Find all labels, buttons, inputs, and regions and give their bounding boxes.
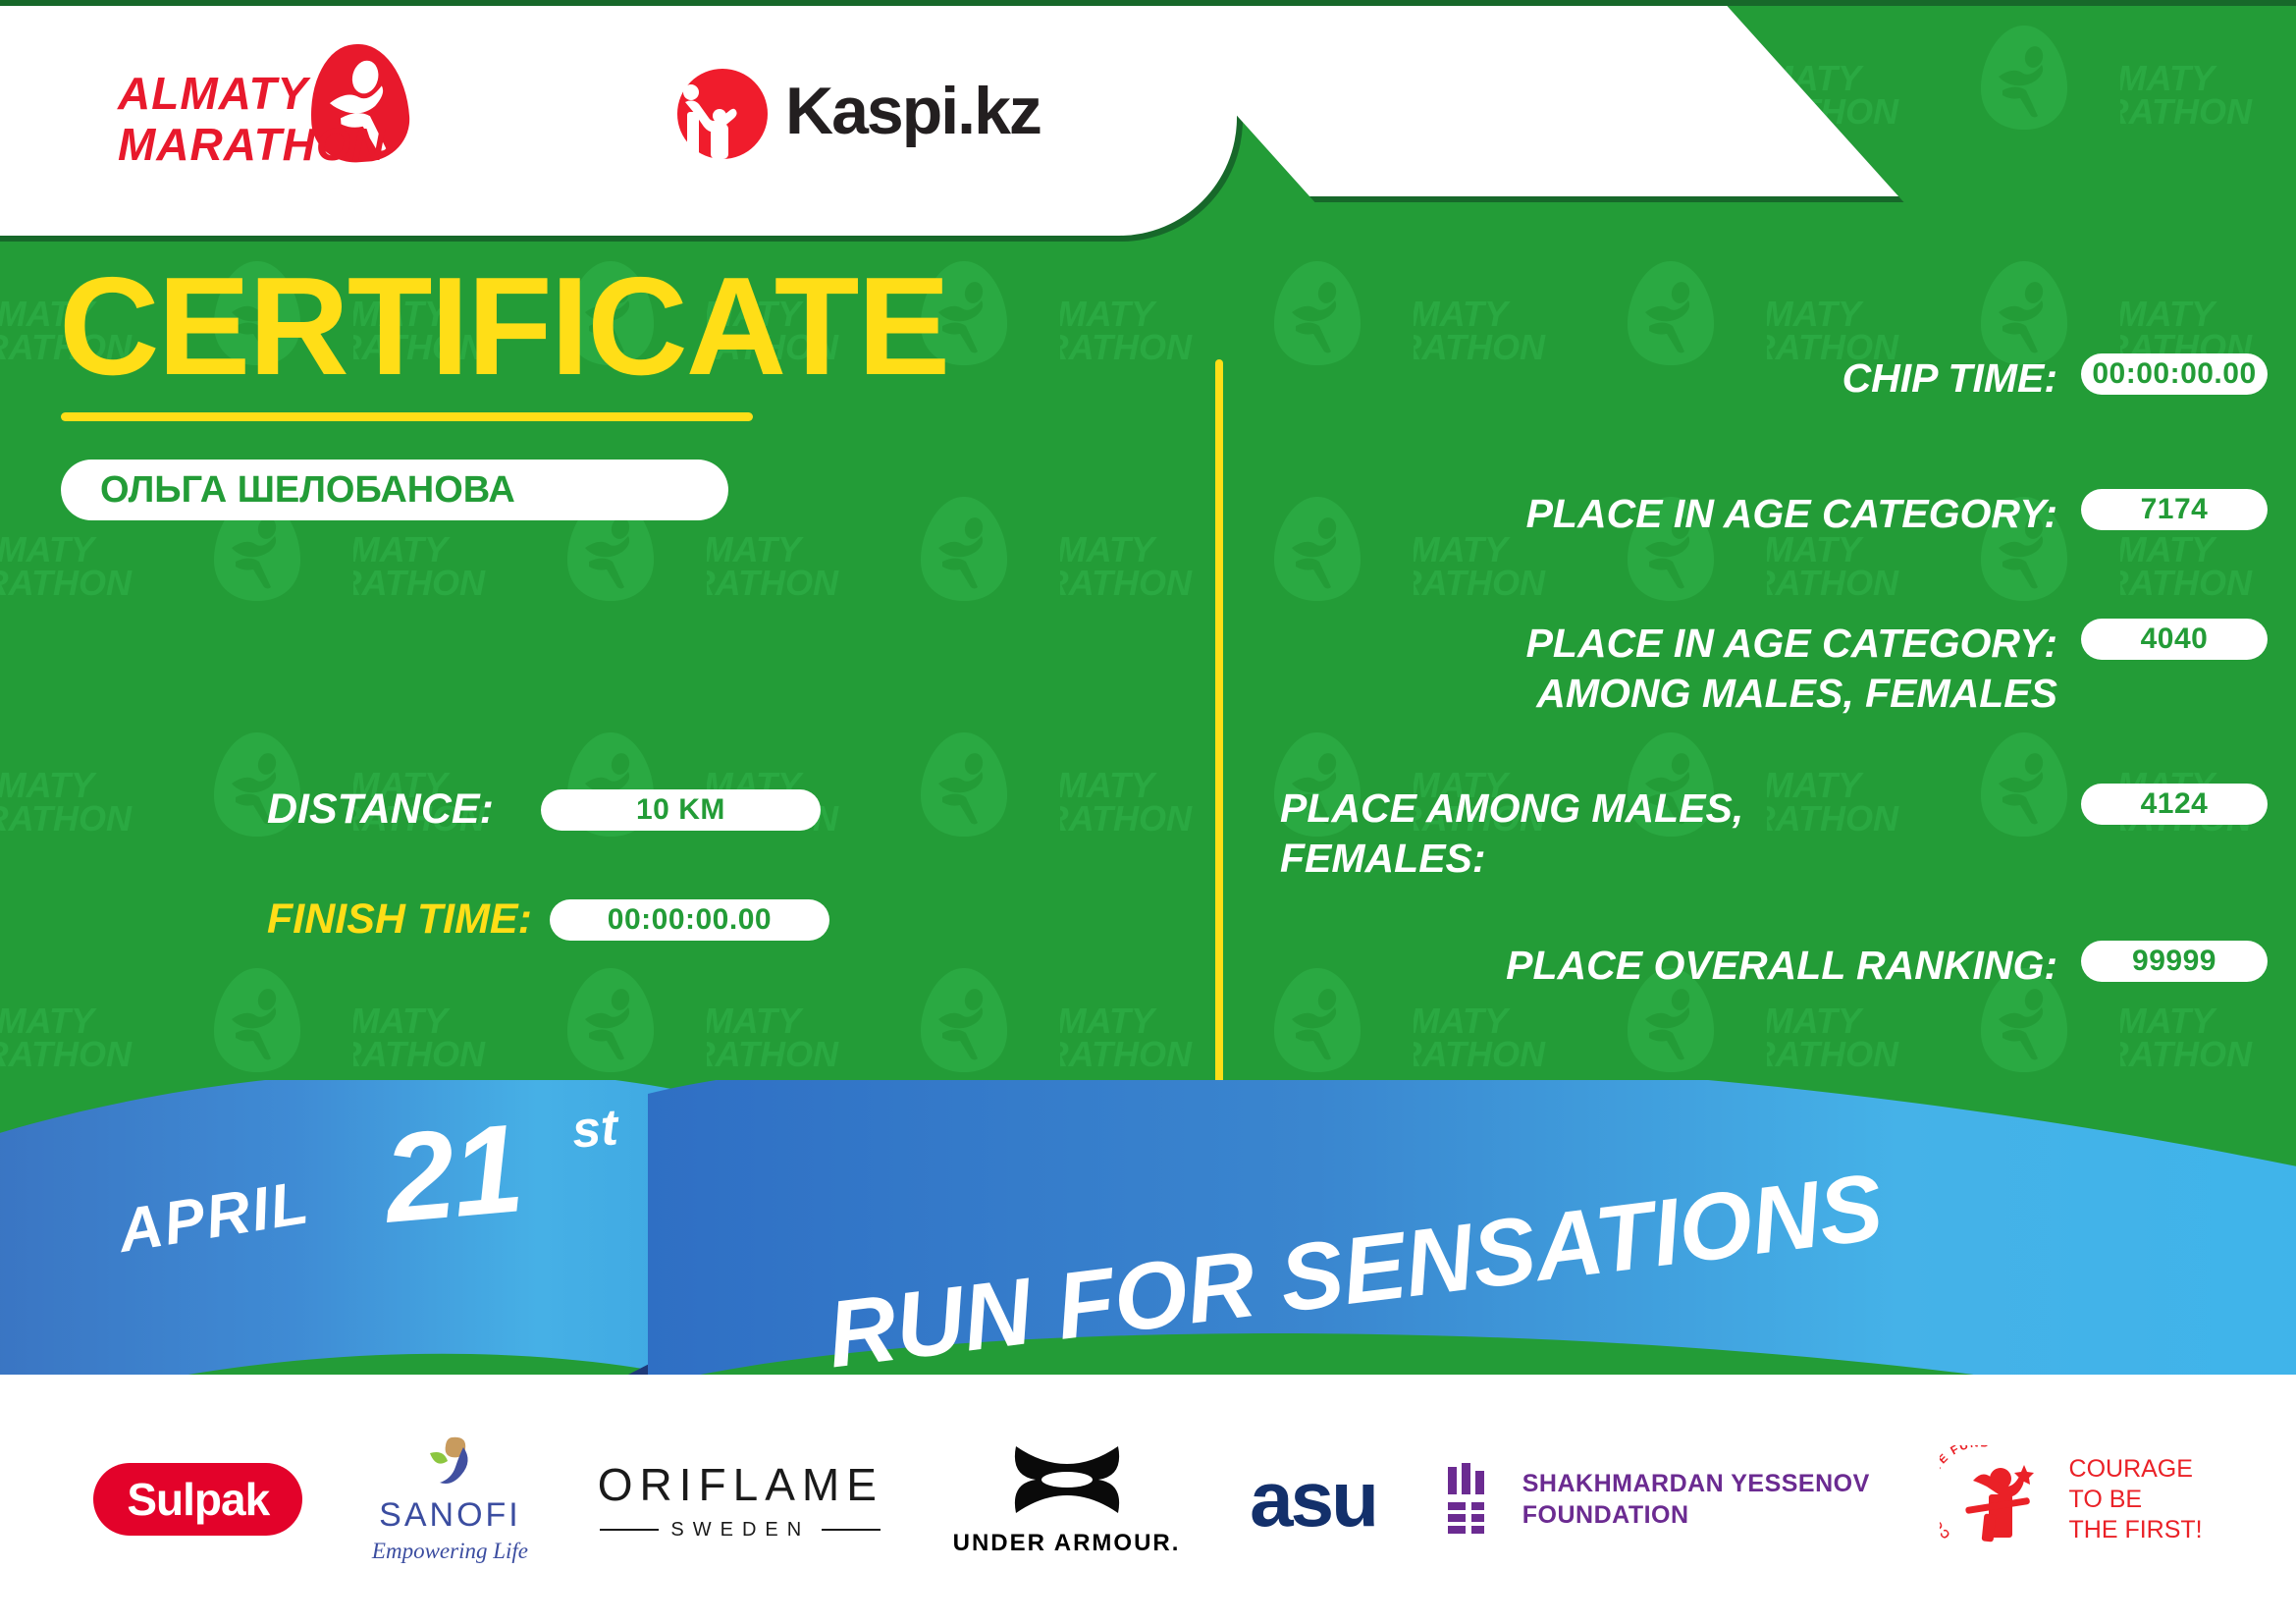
marathon-line: MARATHON — [118, 119, 386, 170]
certificate-canvas: ALMATY MARATHON Kaspi.kz CERTIFICATE ОЛЬ… — [0, 0, 2296, 1624]
finish-time-value: 00:00:00.00 — [608, 903, 772, 937]
place-age-category-gender-value: 4040 — [2141, 623, 2209, 656]
place-among-gender-row: PLACE AMONG MALES, FEMALES: 4124 — [1276, 784, 2268, 884]
place-age-category-label: PLACE IN AGE CATEGORY: — [1276, 489, 2081, 539]
oriflame-sub: SWEDEN — [598, 1519, 883, 1542]
chip-time-value: 00:00:00.00 — [2092, 357, 2256, 391]
header-logos: ALMATY MARATHON Kaspi.kz — [0, 0, 1178, 226]
sulpak-wordmark: Sulpak — [93, 1463, 302, 1536]
left-panel: CERTIFICATE ОЛЬГА ШЕЛОБАНОВА DISTANCE: 1… — [0, 226, 1217, 1208]
label-line-1: PLACE AMONG MALES, — [1280, 784, 2057, 834]
label-line-2: AMONG MALES, FEMALES — [1276, 669, 2057, 719]
place-age-category-value: 7174 — [2141, 493, 2209, 526]
place-age-category-gender-row: PLACE IN AGE CATEGORY: AMONG MALES, FEMA… — [1276, 619, 2268, 719]
place-among-gender-label: PLACE AMONG MALES, FEMALES: — [1276, 784, 2081, 884]
yessenov-line-1: SHAKHMARDAN YESSENOV — [1522, 1468, 1870, 1499]
almaty-line: ALMATY — [118, 68, 386, 119]
distance-value: 10 KM — [636, 793, 725, 827]
place-age-category-value-field: 7174 — [2081, 489, 2268, 530]
finish-time-label: FINISH TIME: — [267, 895, 532, 944]
sanofi-wordmark: SANOFI — [372, 1496, 528, 1535]
oriflame-wordmark: ORIFLAME — [598, 1458, 883, 1511]
almaty-marathon-logo: ALMATY MARATHON — [118, 54, 432, 182]
place-age-category-row: PLACE IN AGE CATEGORY: 7174 — [1276, 489, 2268, 539]
sponsor-bar: Sulpak SANOFI Empowering Life ORIFLAME S… — [0, 1375, 2296, 1624]
place-overall-row: PLACE OVERALL RANKING: 99999 — [1276, 941, 2268, 991]
distance-value-field: 10 KM — [541, 789, 821, 831]
kaspi-people-circle-icon — [677, 69, 768, 159]
yessenov-line-2: FOUNDATION — [1522, 1499, 1870, 1531]
sanofi-tagline: Empowering Life — [372, 1539, 528, 1564]
distance-label: DISTANCE: — [267, 785, 494, 834]
right-panel: CHIP TIME: 00:00:00.00 PLACE IN AGE CATE… — [1276, 353, 2268, 1159]
almaty-marathon-wordmark: ALMATY MARATHON — [118, 68, 386, 170]
sponsor-sulpak: Sulpak — [93, 1426, 302, 1573]
sponsor-under-armour: UNDER ARMOUR. — [953, 1426, 1181, 1573]
finish-time-value-field: 00:00:00.00 — [550, 899, 829, 941]
sponsor-sanofi: SANOFI Empowering Life — [372, 1426, 528, 1573]
corporate-fund-line-2: TO BE — [2069, 1485, 2203, 1515]
yessenov-mark-icon — [1446, 1463, 1501, 1536]
chip-time-value-field: 00:00:00.00 — [2081, 353, 2268, 395]
place-age-category-gender-label: PLACE IN AGE CATEGORY: AMONG MALES, FEMA… — [1276, 619, 2081, 719]
participant-name-field: ОЛЬГА ШЕЛОБАНОВА — [61, 460, 728, 520]
place-age-category-gender-value-field: 4040 — [2081, 619, 2268, 660]
chip-time-label: CHIP TIME: — [1276, 353, 2081, 404]
label-line-1: PLACE IN AGE CATEGORY: — [1276, 619, 2057, 669]
sponsor-asu: asu — [1250, 1426, 1376, 1573]
under-armour-icon — [953, 1442, 1181, 1522]
sanofi-mark-icon — [422, 1435, 477, 1490]
kaspi-logo: Kaspi.kz — [677, 59, 1090, 167]
distance-row: DISTANCE: 10 KM — [267, 785, 821, 834]
label-line-2: FEMALES: — [1280, 834, 2057, 884]
page-title: CERTIFICATE — [59, 253, 948, 401]
title-underline — [61, 412, 753, 421]
under-armour-wordmark: UNDER ARMOUR. — [953, 1530, 1181, 1557]
corporate-fund-line-3: THE FIRST! — [2069, 1515, 2203, 1545]
corporate-fund-line-1: COURAGE — [2069, 1454, 2203, 1485]
asu-wordmark: asu — [1250, 1454, 1376, 1544]
participant-name-value: ОЛЬГА ШЕЛОБАНОВА — [100, 469, 515, 512]
place-among-gender-value: 4124 — [2141, 787, 2209, 821]
chip-time-row: CHIP TIME: 00:00:00.00 — [1276, 353, 2268, 404]
corporate-fund-icon: CORPORATE FUND — [1940, 1445, 2056, 1553]
vertical-divider — [1215, 359, 1223, 1094]
finish-time-row: FINISH TIME: 00:00:00.00 — [267, 895, 829, 944]
place-overall-value: 99999 — [2132, 945, 2216, 978]
sponsor-shakhmardan-yessenov-foundation: SHAKHMARDAN YESSENOV FOUNDATION — [1446, 1426, 1870, 1573]
sponsor-corporate-fund: CORPORATE FUND COURAGE TO BE THE FIRST! — [1940, 1426, 2203, 1573]
sponsor-oriflame: ORIFLAME SWEDEN — [598, 1426, 883, 1573]
kaspi-wordmark: Kaspi.kz — [785, 73, 1041, 149]
place-overall-label: PLACE OVERALL RANKING: — [1276, 941, 2081, 991]
place-overall-value-field: 99999 — [2081, 941, 2268, 982]
place-among-gender-value-field: 4124 — [2081, 784, 2268, 825]
